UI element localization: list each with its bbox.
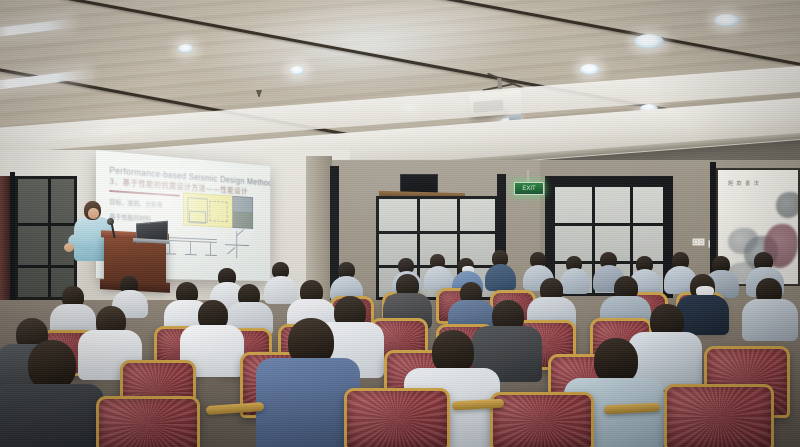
auditorium-chair[interactable]: [344, 388, 450, 447]
exit-sign-label: EXIT: [522, 186, 535, 192]
conference-hall-photo: EXIT 題 款 書 法 Performance-based Seismic D…: [0, 0, 800, 447]
presenter-face: [88, 208, 99, 219]
downlight: [714, 14, 740, 27]
slide-photo-thumbnail: [232, 211, 253, 229]
exit-sign: EXIT: [514, 182, 544, 195]
downlight: [634, 34, 664, 49]
painting-inscription: 題 款 書 法: [728, 180, 760, 187]
light-switch-plate[interactable]: [692, 238, 705, 246]
presenter-hand: [64, 243, 74, 252]
downlight: [178, 44, 194, 53]
downlight: [290, 66, 305, 75]
auditorium-chair[interactable]: [664, 384, 774, 447]
auditorium-chair[interactable]: [96, 396, 200, 447]
slide-figure-highlight: [183, 192, 233, 228]
auditorium-chair[interactable]: [490, 392, 594, 447]
partition-header: [545, 176, 673, 184]
microphone[interactable]: [107, 218, 114, 225]
slide-graph: [225, 230, 249, 258]
downlight: [580, 64, 600, 75]
